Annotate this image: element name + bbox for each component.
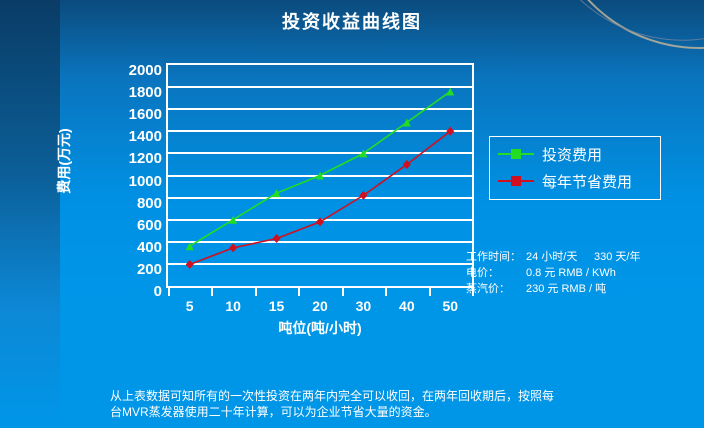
y-tick-label: 1800 xyxy=(129,85,162,100)
y-tick-label: 800 xyxy=(137,196,162,211)
x-tick-label: 5 xyxy=(186,298,194,314)
x-tick-label: 30 xyxy=(356,298,372,314)
x-tick-mark xyxy=(342,288,344,296)
data-point-marker xyxy=(316,172,324,180)
y-tick-label: 1000 xyxy=(129,174,162,189)
x-tick-label: 15 xyxy=(269,298,285,314)
note-key: 工作时间： xyxy=(466,248,521,264)
legend-item-label: 每年节省费用 xyxy=(542,171,632,192)
x-tick-label: 10 xyxy=(225,298,241,314)
note-value: 0.8 元 RMB / KWh xyxy=(526,264,616,280)
x-axis-ticks xyxy=(166,288,476,297)
legend-swatch-icon xyxy=(498,153,534,155)
assumptions-notes: 工作时间：24 小时/天330 天/年电价：0.8 元 RMB / KWh蒸汽价… xyxy=(466,248,702,296)
y-axis-title: 费用(万元) xyxy=(54,91,74,231)
x-axis-tick-labels: 5101520304050 xyxy=(166,298,476,318)
data-point-marker xyxy=(273,189,281,197)
note-value-secondary: 330 天/年 xyxy=(594,248,640,264)
x-tick-mark xyxy=(211,288,213,296)
data-point-marker xyxy=(186,242,194,250)
y-tick-label: 1200 xyxy=(129,151,162,166)
data-point-marker xyxy=(229,216,237,224)
data-point-marker xyxy=(359,191,367,200)
x-tick-mark xyxy=(255,288,257,296)
y-tick-label: 400 xyxy=(137,240,162,255)
y-axis-tick-labels: 2000180016001400120010008006004002000 xyxy=(96,54,162,299)
y-tick-label: 1400 xyxy=(129,129,162,144)
y-tick-label: 600 xyxy=(137,218,162,233)
note-row: 电价：0.8 元 RMB / KWh xyxy=(466,264,702,280)
plot-area xyxy=(166,63,474,288)
legend-swatch-icon xyxy=(498,180,534,182)
y-tick-label: 1600 xyxy=(129,107,162,122)
data-point-marker xyxy=(273,234,281,243)
x-tick-mark xyxy=(385,288,387,296)
x-tick-mark xyxy=(298,288,300,296)
chart-legend: 投资费用每年节省费用 xyxy=(489,136,661,200)
footer-text: 从上表数据可知所有的一次性投资在两年内完全可以收回，在两年回收期后，按照每 台M… xyxy=(110,388,610,420)
note-key: 蒸汽价： xyxy=(466,280,510,296)
note-key: 电价： xyxy=(466,264,499,280)
data-point-marker xyxy=(403,160,411,169)
data-point-marker xyxy=(186,260,194,269)
footer-line-1: 从上表数据可知所有的一次性投资在两年内完全可以收回，在两年回收期后，按照每 xyxy=(110,388,610,404)
x-tick-mark xyxy=(168,288,170,296)
data-point-marker xyxy=(446,88,454,96)
note-row: 蒸汽价：230 元 RMB / 吨 xyxy=(466,280,702,296)
y-tick-label: 0 xyxy=(154,284,162,299)
x-tick-label: 40 xyxy=(399,298,415,314)
y-tick-label: 2000 xyxy=(129,63,162,78)
legend-item-label: 投资费用 xyxy=(542,144,602,165)
footer-line-2: 台MVR蒸发器使用二十年计算，可以为企业节省大量的资金。 xyxy=(110,404,610,420)
page-title: 投资收益曲线图 xyxy=(0,8,704,34)
legend-item: 每年节省费用 xyxy=(498,170,632,192)
note-row: 工作时间：24 小时/天330 天/年 xyxy=(466,248,702,264)
note-value: 24 小时/天 xyxy=(526,248,577,264)
series-lines xyxy=(168,65,472,286)
data-point-marker xyxy=(446,127,454,136)
data-point-marker xyxy=(229,243,237,252)
series-line xyxy=(190,131,451,264)
note-value: 230 元 RMB / 吨 xyxy=(526,280,606,296)
slide-canvas: 投资收益曲线图 费用(万元) 2000180016001400120010008… xyxy=(0,0,704,428)
x-tick-label: 20 xyxy=(312,298,328,314)
data-point-marker xyxy=(316,217,324,226)
y-tick-label: 200 xyxy=(137,262,162,277)
x-tick-mark xyxy=(429,288,431,296)
x-axis-title: 吨位(吨/小时) xyxy=(166,318,474,338)
x-tick-label: 50 xyxy=(442,298,458,314)
legend-item: 投资费用 xyxy=(498,143,602,165)
